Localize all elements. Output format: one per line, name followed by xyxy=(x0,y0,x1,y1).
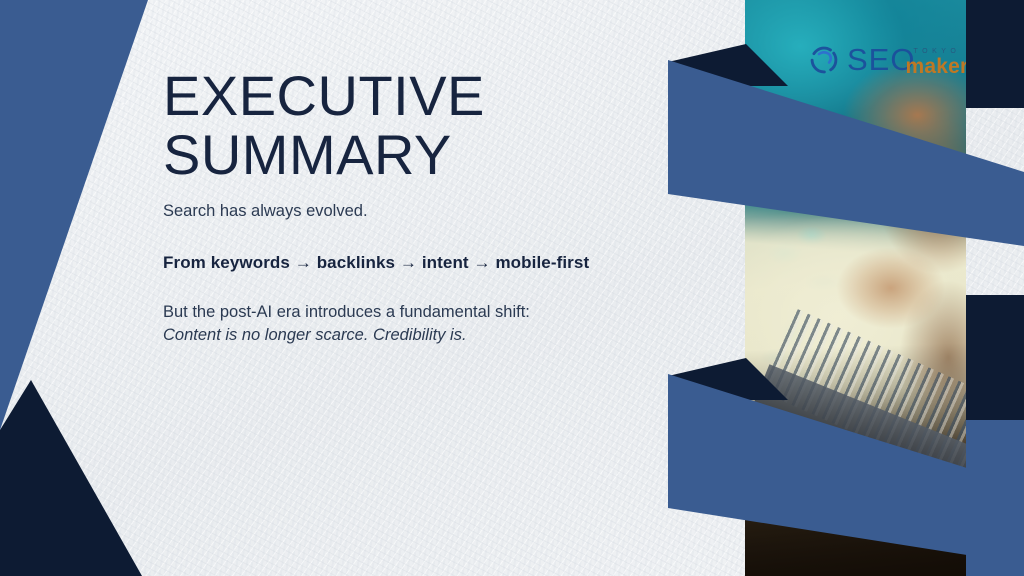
logo-maker-text: maker xyxy=(905,56,966,77)
body-evolution-line: From keywords → backlinks → intent → mob… xyxy=(163,251,643,275)
seo-circle-icon xyxy=(807,43,841,77)
seo-maker-logo: SEO TOKYO maker xyxy=(807,42,966,77)
page-title: EXECUTIVE SUMMARY xyxy=(163,66,683,185)
body-shift-line: But the post-AI era introduces a fundame… xyxy=(163,301,643,348)
right-navy-band-top xyxy=(966,0,1024,108)
body-shift-lead: But the post-AI era introduces a fundame… xyxy=(163,303,530,321)
logo-sub-lockup: TOKYO maker xyxy=(905,48,966,77)
right-navy-band-middle xyxy=(966,295,1024,422)
slide-canvas: SEO TOKYO maker EXECUTIVE SUMMARY Search… xyxy=(0,0,1024,576)
body-intro-line: Search has always evolved. xyxy=(163,200,643,223)
body-shift-emphasis: Content is no longer scarce. Credibility… xyxy=(163,324,643,347)
logo-tokyo-text: TOKYO xyxy=(913,48,966,55)
body-copy: Search has always evolved. From keywords… xyxy=(163,200,643,348)
ribbon-bottom-right-tail xyxy=(966,420,1024,576)
